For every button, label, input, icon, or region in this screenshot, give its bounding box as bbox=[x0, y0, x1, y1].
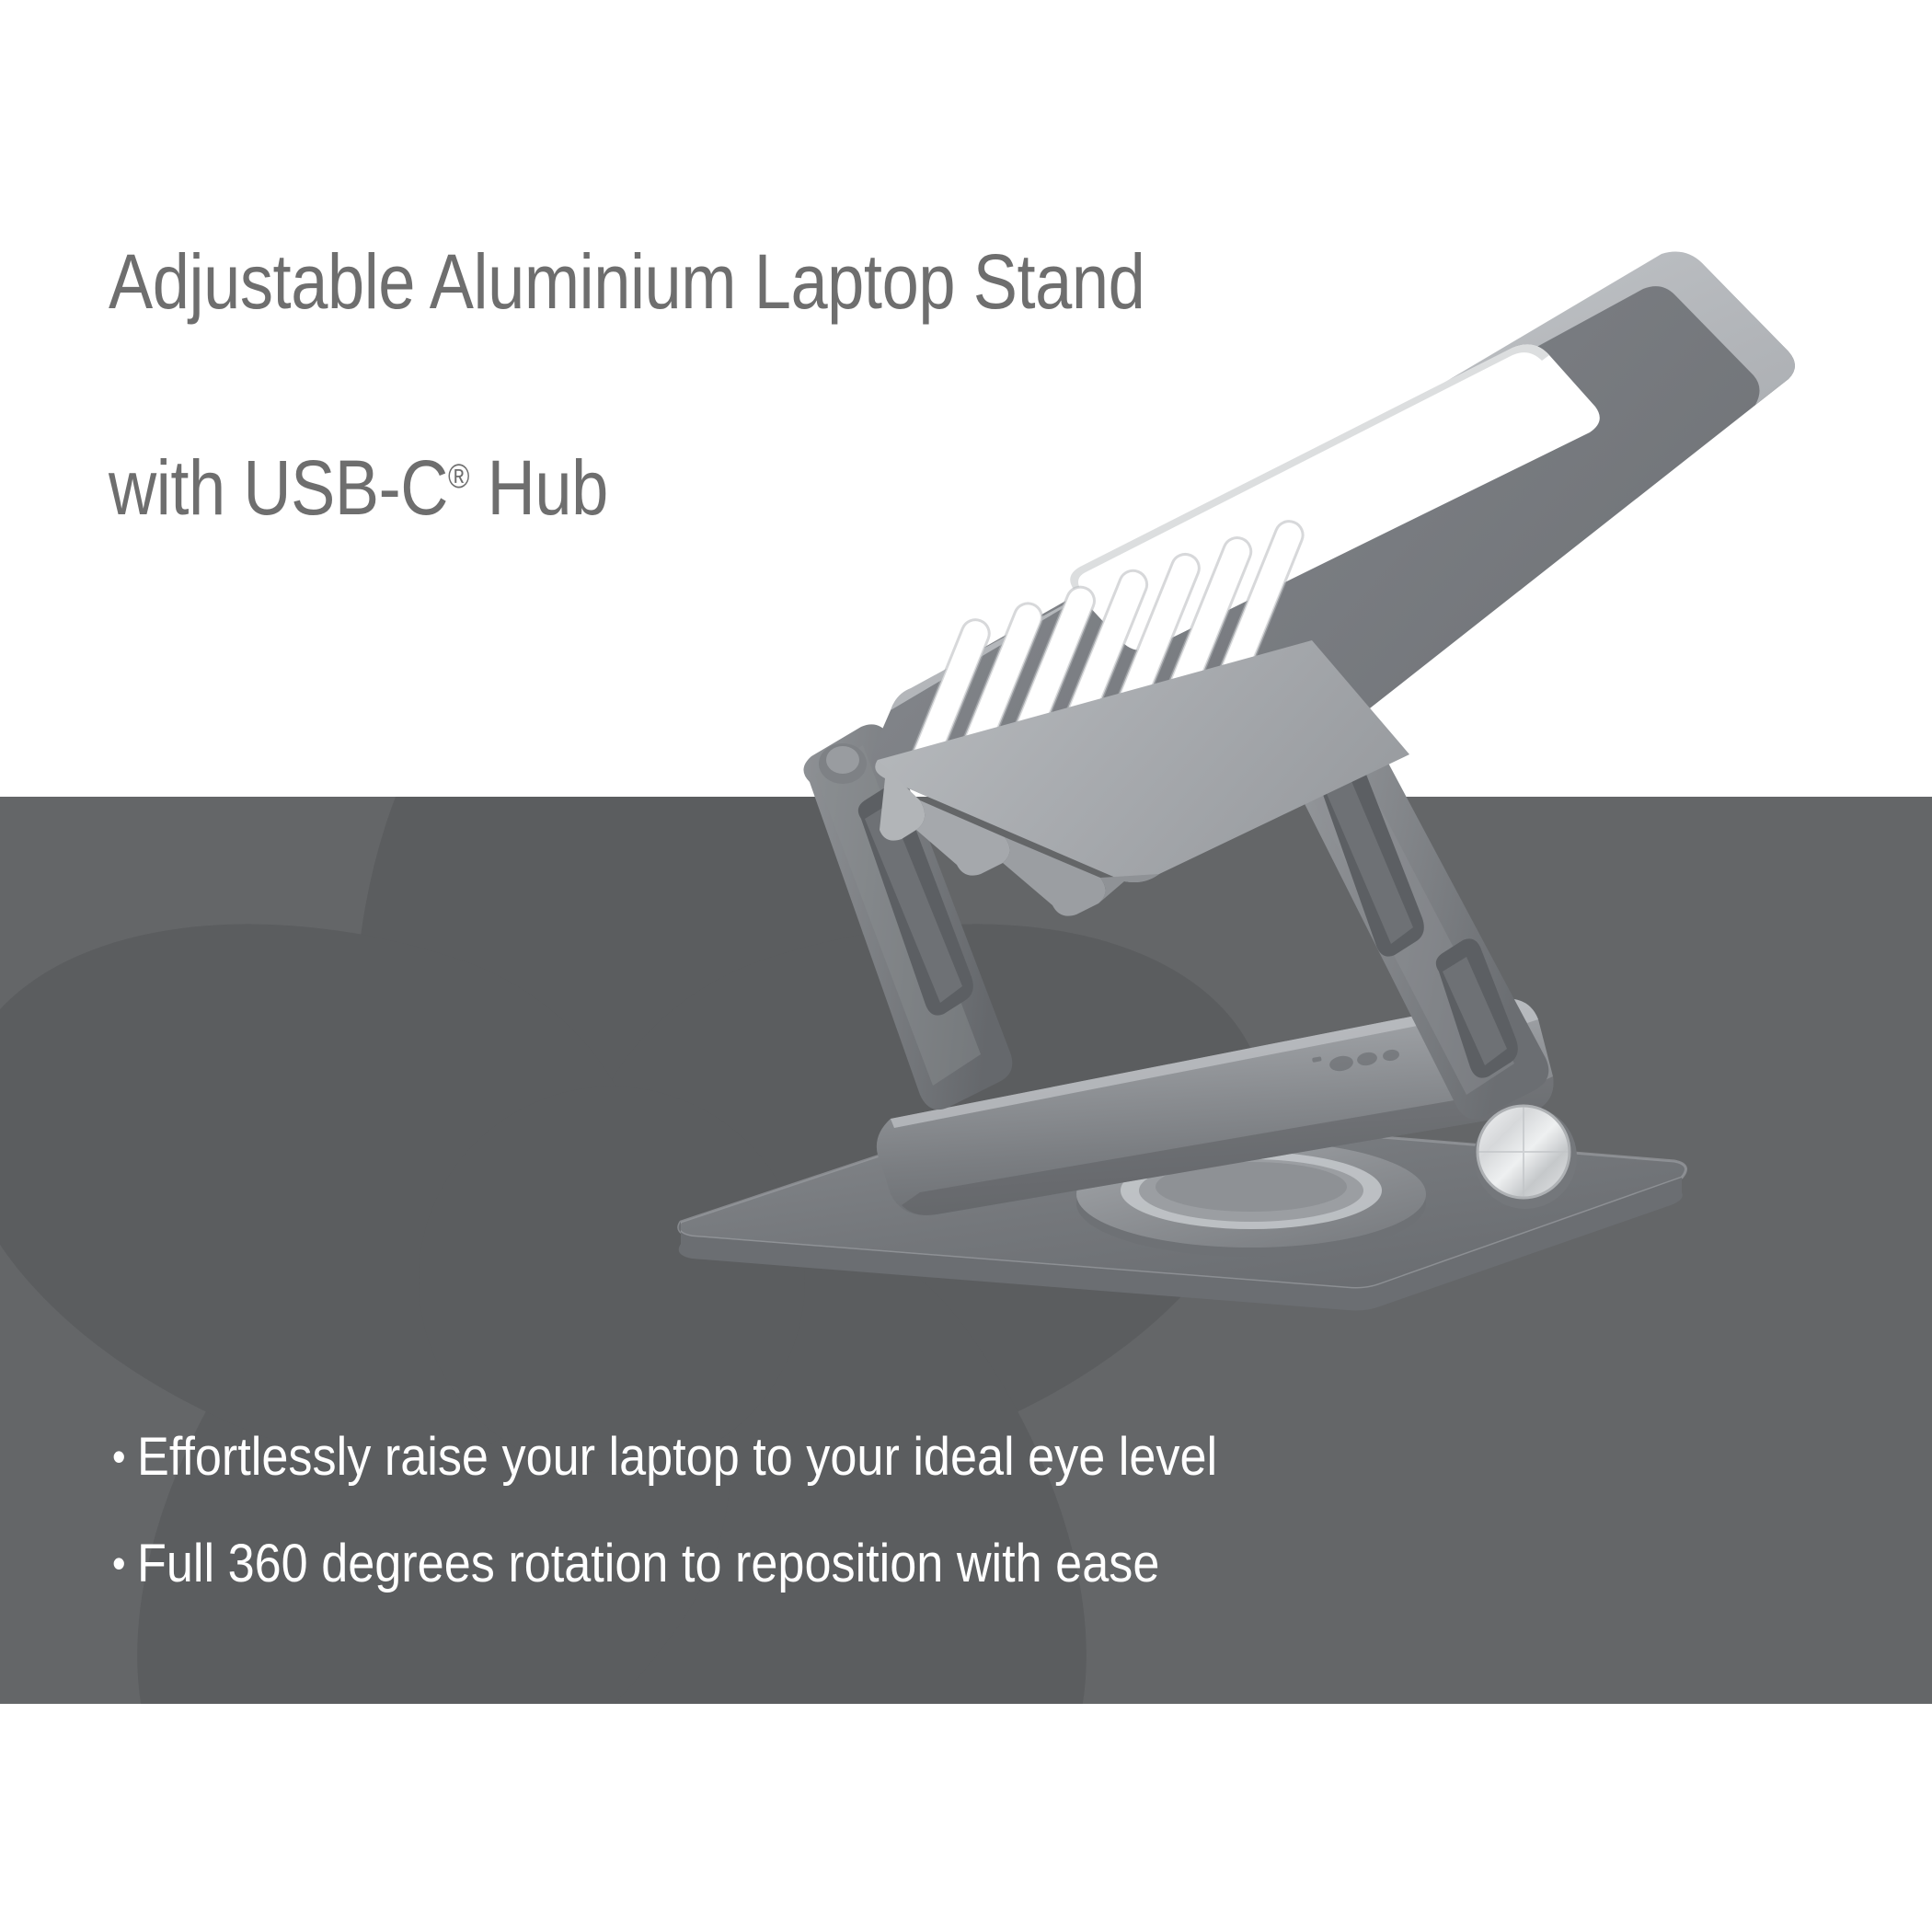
bullet-marker-icon: • bbox=[112, 1424, 137, 1489]
registered-trademark-icon: ® bbox=[448, 457, 469, 495]
feature-panel: • Effortlessly raise your laptop to your… bbox=[0, 797, 1932, 1704]
list-item: • Effortlessly raise your laptop to your… bbox=[112, 1424, 1520, 1490]
title-line-2-text: with USB-C bbox=[109, 444, 448, 531]
poster-canvas: Adjustable Aluminium Laptop Stand with U… bbox=[0, 0, 1932, 1932]
title-line-2: with USB-C® Hub bbox=[109, 436, 1343, 539]
feature-list: • Effortlessly raise your laptop to your… bbox=[112, 1424, 1676, 1638]
title-line-1: Adjustable Aluminium Laptop Stand bbox=[109, 230, 1343, 333]
bullet-marker-icon: • bbox=[112, 1531, 137, 1595]
feature-text: Full 360 degrees rotation to reposition … bbox=[137, 1531, 1159, 1597]
feature-text: Effortlessly raise your laptop to your i… bbox=[137, 1424, 1217, 1490]
title-line-2-suffix: Hub bbox=[469, 444, 608, 531]
list-item: • Full 360 degrees rotation to repositio… bbox=[112, 1531, 1520, 1597]
page-title: Adjustable Aluminium Laptop Stand with U… bbox=[109, 127, 1343, 642]
